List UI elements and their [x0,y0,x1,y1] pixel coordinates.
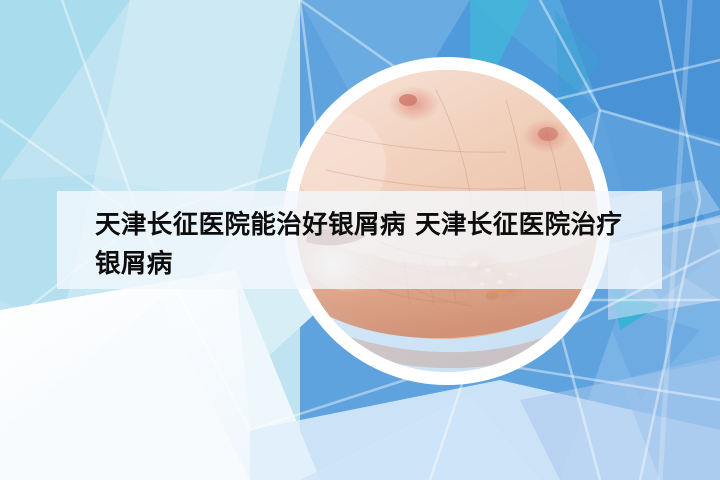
title-band: 天津长征医院能治好银屑病 天津长征医院治疗银屑病 [57,191,662,289]
banner-root: 天津长征医院能治好银屑病 天津长征医院治疗银屑病 [0,0,720,480]
page-title: 天津长征医院能治好银屑病 天津长征医院治疗银屑病 [95,206,640,284]
